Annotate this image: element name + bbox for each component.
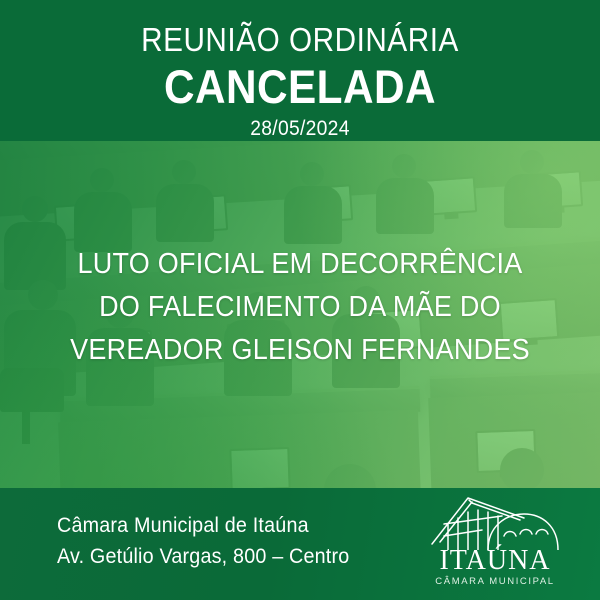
announcement-message: LUTO OFICIAL EM DECORRÊNCIA DO FALECIMEN… <box>0 243 600 372</box>
logo-wordmark: ITAÚNA CÂMARA MUNICIPAL <box>420 546 570 588</box>
message-line-1: LUTO OFICIAL EM DECORRÊNCIA <box>47 243 553 286</box>
institution-name: Câmara Municipal de Itaúna <box>57 510 386 541</box>
itauna-logo: ITAÚNA CÂMARA MUNICIPAL <box>420 494 570 592</box>
meeting-type-title: REUNIÃO ORDINÁRIA <box>30 0 570 59</box>
header-band: REUNIÃO ORDINÁRIA CANCELADA 28/05/2024 <box>0 0 600 141</box>
footer-band: Câmara Municipal de Itaúna Av. Getúlio V… <box>0 488 600 600</box>
itauna-building-dome-icon <box>428 494 562 550</box>
status-title: CANCELADA <box>30 59 570 113</box>
street-address: Av. Getúlio Vargas, 800 – Centro <box>57 541 386 572</box>
announcement-card: REUNIÃO ORDINÁRIA CANCELADA 28/05/2024 L… <box>0 0 600 600</box>
message-line-3: VEREADOR GLEISON FERNANDES <box>47 329 553 372</box>
footer-address: Câmara Municipal de Itaúna Av. Getúlio V… <box>57 510 407 572</box>
message-line-2: DO FALECIMENTO DA MÃE DO <box>47 286 553 329</box>
meeting-date: 28/05/2024 <box>24 113 576 141</box>
logo-subtitle: CÂMARA MUNICIPAL <box>420 576 570 588</box>
logo-name: ITAÚNA <box>420 546 570 576</box>
